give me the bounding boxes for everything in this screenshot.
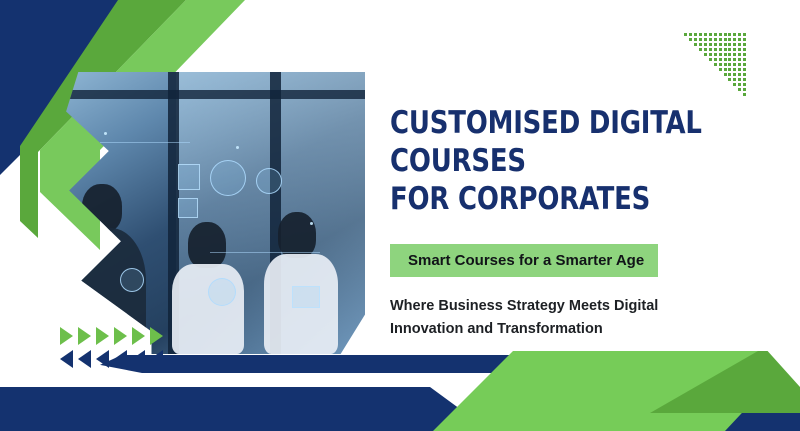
arrow-row-right-green <box>60 327 163 345</box>
dotted-triangle-dot <box>719 38 722 41</box>
dotted-triangle-dot <box>738 88 741 91</box>
dotted-triangle-dot <box>699 43 702 46</box>
dotted-triangle-dot <box>704 33 707 36</box>
dotted-triangle-dot <box>694 43 697 46</box>
photo-person-body <box>172 264 244 354</box>
arrow-right-icon <box>114 327 127 345</box>
dotted-triangle-dot <box>684 33 687 36</box>
dotted-triangle-dot <box>733 48 736 51</box>
dotted-triangle-dot <box>689 33 692 36</box>
arrow-right-icon <box>132 327 145 345</box>
dotted-triangle-dot <box>694 38 697 41</box>
dotted-triangle-dot <box>738 63 741 66</box>
dotted-triangle-dot <box>743 58 746 61</box>
dotted-triangle-dot <box>743 53 746 56</box>
dotted-triangle-dot <box>724 43 727 46</box>
dotted-triangle-dot <box>743 83 746 86</box>
dotted-triangle-dot <box>709 33 712 36</box>
copy-block: CUSTOMISED DIGITAL COURSES FOR CORPORATE… <box>390 104 770 340</box>
page-title: CUSTOMISED DIGITAL COURSES FOR CORPORATE… <box>390 104 743 218</box>
dotted-triangle-dot <box>743 43 746 46</box>
dotted-triangle-dot <box>724 68 727 71</box>
hud-connector-line <box>100 142 190 143</box>
arrow-right-icon <box>60 327 73 345</box>
dotted-triangle-dot <box>733 58 736 61</box>
dotted-triangle-dot <box>743 88 746 91</box>
dotted-triangle-dot <box>699 33 702 36</box>
dotted-triangle-dot <box>743 48 746 51</box>
dotted-triangle-dot <box>719 43 722 46</box>
dotted-triangle-dot <box>743 33 746 36</box>
dotted-triangle-dot <box>714 38 717 41</box>
dotted-triangle-dot <box>714 58 717 61</box>
dotted-triangle-dot <box>743 63 746 66</box>
bottom-navy-sliver <box>100 355 530 373</box>
dotted-triangle-dot <box>738 48 741 51</box>
dotted-triangle-dot <box>738 53 741 56</box>
tagline-container: Smart Courses for a Smarter Age <box>390 244 770 277</box>
promo-banner: CUSTOMISED DIGITAL COURSES FOR CORPORATE… <box>0 0 800 431</box>
dotted-triangle-dot <box>728 38 731 41</box>
dotted-triangle-dot <box>724 53 727 56</box>
dotted-triangle-dot <box>704 48 707 51</box>
headline-line-2: FOR CORPORATES <box>390 180 743 218</box>
dotted-triangle-dot <box>709 58 712 61</box>
dotted-triangle-dot <box>728 73 731 76</box>
dotted-triangle-dot <box>733 43 736 46</box>
dotted-triangle-dot <box>743 38 746 41</box>
dotted-triangle-dot <box>724 38 727 41</box>
dotted-triangle-dot <box>733 83 736 86</box>
dotted-triangle-dot <box>733 63 736 66</box>
dotted-triangle-dot <box>738 38 741 41</box>
dotted-triangle-dot <box>728 58 731 61</box>
dotted-triangle-dot <box>709 48 712 51</box>
dotted-triangle-dot <box>709 38 712 41</box>
hud-panel-icon <box>178 164 200 190</box>
subcopy: Where Business Strategy Meets Digital In… <box>390 295 770 340</box>
hud-panel-icon <box>292 286 320 308</box>
dotted-triangle-dot <box>724 33 727 36</box>
dotted-triangle-dot <box>743 68 746 71</box>
dotted-triangle-dot <box>743 73 746 76</box>
headline-line-1: CUSTOMISED DIGITAL COURSES <box>390 104 743 180</box>
dotted-triangle-dot <box>714 33 717 36</box>
dotted-triangle-dot <box>738 73 741 76</box>
dotted-triangle-dot <box>714 48 717 51</box>
hud-node-dot <box>104 132 107 135</box>
dotted-triangle-dot <box>738 68 741 71</box>
dotted-triangle-dot <box>733 68 736 71</box>
hero-photo <box>60 72 365 354</box>
hud-node-dot <box>236 146 239 149</box>
dotted-triangle-dot <box>728 53 731 56</box>
subcopy-line-1: Where Business Strategy Meets Digital <box>390 295 770 317</box>
hud-circle-icon <box>120 268 144 292</box>
dotted-triangle-dot <box>728 68 731 71</box>
dotted-triangle-dot <box>694 33 697 36</box>
dotted-triangle-dot <box>728 43 731 46</box>
dotted-triangle-dot <box>719 33 722 36</box>
photo-person-head <box>188 222 226 268</box>
dotted-triangle-dot <box>709 53 712 56</box>
dotted-triangle-dot <box>724 73 727 76</box>
dotted-triangle-icon <box>684 33 748 98</box>
dotted-triangle-dot <box>738 33 741 36</box>
dotted-triangle-dot <box>699 48 702 51</box>
dotted-triangle-dot <box>719 58 722 61</box>
dotted-triangle-dot <box>733 73 736 76</box>
hud-circle-icon <box>208 278 236 306</box>
dotted-triangle-dot <box>738 58 741 61</box>
subcopy-line-2: Innovation and Transformation <box>390 318 770 340</box>
dotted-triangle-dot <box>689 38 692 41</box>
dotted-triangle-dot <box>714 53 717 56</box>
hud-globe-icon <box>210 160 246 196</box>
dotted-triangle-dot <box>714 63 717 66</box>
dotted-triangle-dot <box>704 53 707 56</box>
dotted-triangle-dot <box>738 83 741 86</box>
dotted-triangle-dot <box>743 78 746 81</box>
dotted-triangle-dot <box>728 48 731 51</box>
dotted-triangle-dot <box>743 93 746 96</box>
dotted-triangle-dot <box>733 38 736 41</box>
dotted-triangle-row <box>684 93 748 98</box>
dotted-triangle-dot <box>733 33 736 36</box>
arrow-left-icon <box>60 350 73 368</box>
dotted-triangle-dot <box>709 43 712 46</box>
hud-node-dot <box>310 222 313 225</box>
dotted-triangle-dot <box>728 33 731 36</box>
dotted-triangle-dot <box>704 43 707 46</box>
dotted-triangle-dot <box>728 63 731 66</box>
dotted-triangle-dot <box>724 63 727 66</box>
hud-connector-line <box>210 252 320 253</box>
arrow-right-icon <box>150 327 163 345</box>
dotted-triangle-dot <box>733 53 736 56</box>
hud-panel-icon <box>178 198 198 218</box>
dotted-triangle-dot <box>719 63 722 66</box>
dotted-triangle-dot <box>733 78 736 81</box>
dotted-triangle-dot <box>738 78 741 81</box>
arrow-left-icon <box>78 350 91 368</box>
dotted-triangle-dot <box>724 58 727 61</box>
dotted-triangle-dot <box>719 53 722 56</box>
dotted-triangle-dot <box>724 48 727 51</box>
dotted-triangle-dot <box>728 78 731 81</box>
dotted-triangle-dot <box>704 38 707 41</box>
arrow-right-icon <box>96 327 109 345</box>
dotted-triangle-dot <box>714 43 717 46</box>
photo-frame-horizontal <box>60 90 365 99</box>
tagline-highlight: Smart Courses for a Smarter Age <box>390 244 658 277</box>
dotted-triangle-dot <box>738 43 741 46</box>
dotted-triangle-dot <box>699 38 702 41</box>
arrow-right-icon <box>78 327 91 345</box>
hud-circle-icon <box>256 168 282 194</box>
dotted-triangle-dot <box>719 48 722 51</box>
dotted-triangle-dot <box>719 68 722 71</box>
